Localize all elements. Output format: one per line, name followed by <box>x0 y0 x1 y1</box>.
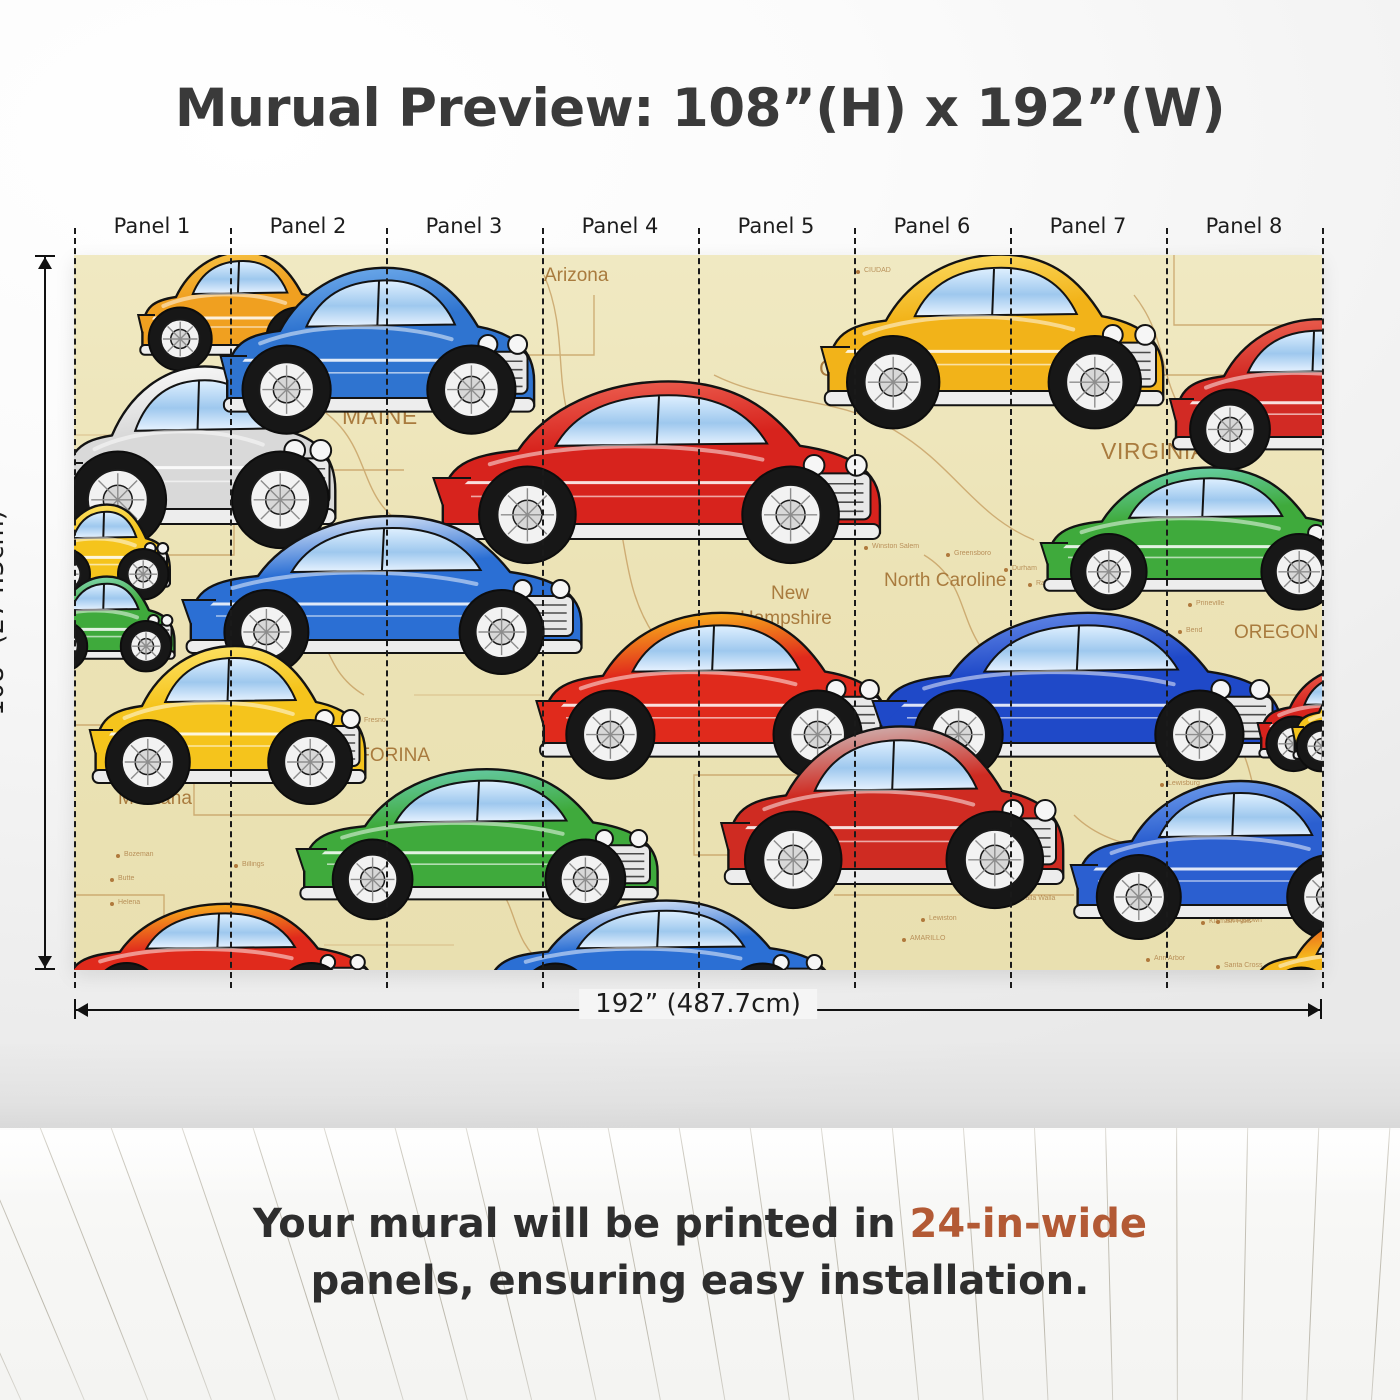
map-city-dot-39 <box>1216 965 1220 969</box>
panel-divider-1 <box>230 228 232 988</box>
panel-divider-7 <box>1166 228 1168 988</box>
map-city-dot-40 <box>1146 958 1150 962</box>
car-blue-white-sedan-bottom <box>474 870 844 970</box>
map-city-dot-17 <box>902 938 906 942</box>
panel-label-3: Panel 3 <box>386 214 542 238</box>
map-city-dot-29 <box>234 864 238 868</box>
footer-highlight: 24-in-wide <box>910 1201 1147 1247</box>
car-yellow-partial-right <box>1289 655 1322 775</box>
footer-line-1-text: Your mural will be printed in <box>253 1201 910 1247</box>
panel-label-4: Panel 4 <box>542 214 698 238</box>
car-green-partial-left <box>74 555 179 675</box>
panel-divider-3 <box>542 228 544 988</box>
panel-divider-0 <box>74 228 76 988</box>
panel-divider-6 <box>1010 228 1012 988</box>
panel-label-6: Panel 6 <box>854 214 1010 238</box>
map-city-dot-30 <box>116 854 120 858</box>
panel-divider-4 <box>698 228 700 988</box>
height-dimension-label: 108” (274.3cm) <box>0 510 10 716</box>
panel-label-2: Panel 2 <box>230 214 386 238</box>
panel-label-8: Panel 8 <box>1166 214 1322 238</box>
width-dimension-label: 192” (487.7cm) <box>579 989 817 1019</box>
map-city-dot-37 <box>921 918 925 922</box>
height-dimension: 108” (274.3cm) <box>44 255 46 970</box>
footer-note: Your mural will be printed in 24-in-wide… <box>0 1196 1400 1310</box>
mural-preview-page: Murual Preview: 108”(H) x 192”(W) Panel … <box>0 0 1400 1400</box>
panel-divider-5 <box>854 228 856 988</box>
car-red-flame-bottom-left <box>74 875 384 970</box>
page-title: Murual Preview: 108”(H) x 192”(W) <box>0 78 1400 139</box>
footer-line-2: panels, ensuring easy installation. <box>0 1253 1400 1310</box>
panel-label-1: Panel 1 <box>74 214 230 238</box>
map-city-dot-20 <box>1004 568 1008 572</box>
panel-divider-2 <box>386 228 388 988</box>
panel-divider-8 <box>1322 228 1324 988</box>
panel-label-7: Panel 7 <box>1010 214 1166 238</box>
panel-label-5: Panel 5 <box>698 214 854 238</box>
map-city-dot-19 <box>946 553 950 557</box>
car-yellow-red-bottom-right <box>1244 885 1322 970</box>
wall-floor-shadow <box>0 1040 1400 1128</box>
footer-line-1: Your mural will be printed in 24-in-wide <box>0 1196 1400 1253</box>
width-dimension: 192” (487.7cm) <box>74 1009 1322 1011</box>
floor-highlight <box>0 1128 1400 1198</box>
